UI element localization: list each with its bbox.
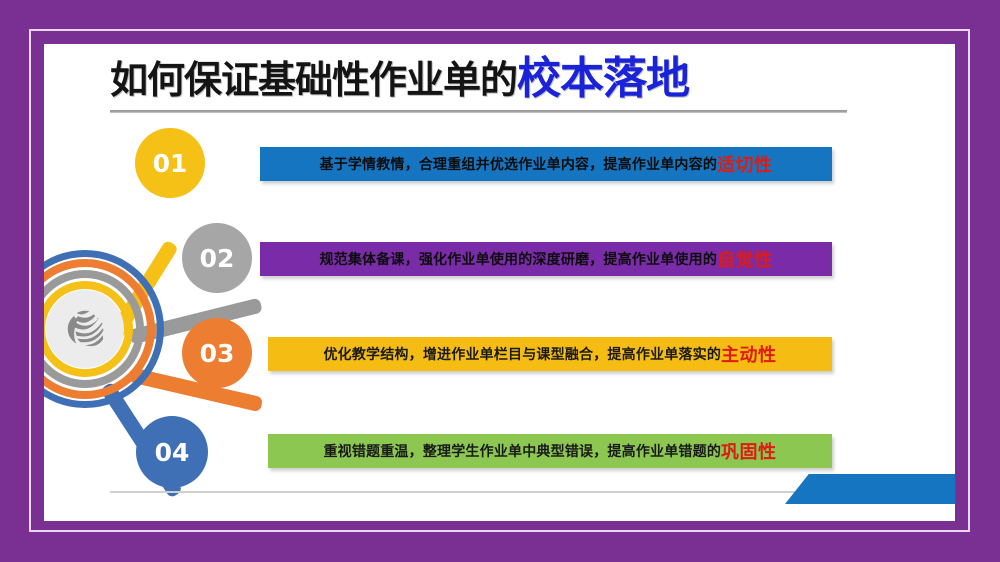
presentation-slide: 如何保证基础性作业单的校本落地	[0, 0, 1000, 562]
content-bar-04-accent: 巩固性	[721, 438, 777, 464]
slide-canvas: 如何保证基础性作业单的校本落地	[44, 44, 955, 521]
content-bar-04-text: 重视错题重温，整理学生作业单中典型错误，提高作业单错题的	[323, 441, 721, 461]
page-title-accent: 校本落地	[517, 53, 689, 104]
globe-icon	[62, 306, 108, 352]
content-bar-04[interactable]: 重视错题重温，整理学生作业单中典型错误，提高作业单错题的巩固性	[268, 434, 832, 468]
page-title: 如何保证基础性作业单的校本落地	[110, 54, 689, 105]
content-bar-03-text: 优化教学结构，增进作业单栏目与课型融合，提高作业单落实的	[323, 344, 721, 364]
step-circle-01[interactable]: 01	[135, 128, 205, 198]
content-bar-02-accent: 自觉性	[717, 246, 773, 272]
step-circle-04[interactable]: 04	[136, 416, 208, 488]
step-circle-03[interactable]: 03	[182, 318, 252, 388]
hub-rings	[44, 250, 164, 408]
bottom-divider	[110, 491, 855, 493]
step-circle-02[interactable]: 02	[182, 223, 252, 293]
content-bar-01-accent: 适切性	[717, 151, 773, 177]
page-title-main: 如何保证基础性作业单的	[110, 58, 517, 102]
content-bar-01-text: 基于学情教情，合理重组并优选作业单内容，提高作业单内容的	[319, 154, 717, 174]
content-bar-02[interactable]: 规范集体备课，强化作业单使用的深度研磨，提高作业单使用的自觉性	[260, 242, 832, 276]
content-bar-03-accent: 主动性	[721, 341, 777, 367]
content-bar-01[interactable]: 基于学情教情，合理重组并优选作业单内容，提高作业单内容的适切性	[260, 147, 832, 181]
content-bar-02-text: 规范集体备课，强化作业单使用的深度研磨，提高作业单使用的	[319, 249, 717, 269]
bottom-accent-shape	[785, 474, 955, 504]
content-bar-03[interactable]: 优化教学结构，增进作业单栏目与课型融合，提高作业单落实的主动性	[268, 337, 832, 371]
title-divider	[110, 110, 847, 113]
